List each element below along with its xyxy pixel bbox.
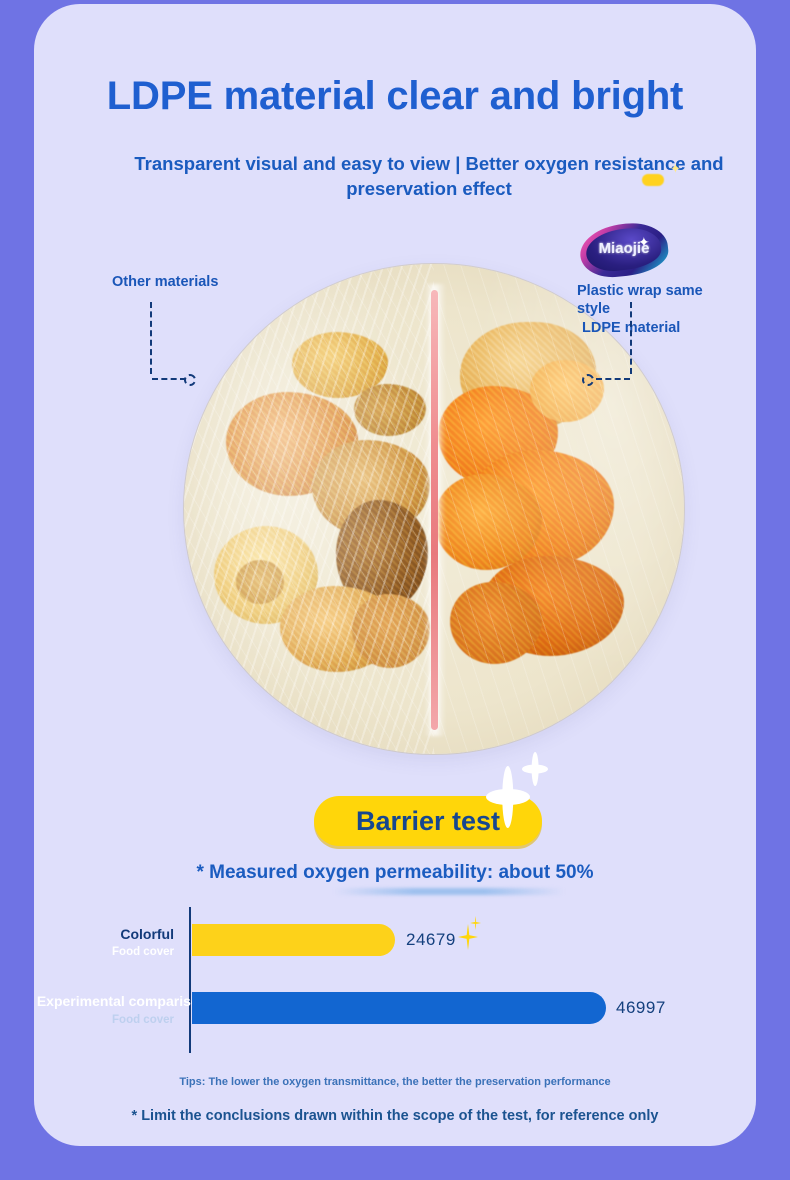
chart-bar-experimental xyxy=(192,992,606,1024)
chart-axis xyxy=(189,907,191,1053)
chart-bar-colorful xyxy=(192,924,395,956)
brand-logo: ✦ Miaojie xyxy=(580,224,668,276)
callout-bracket-right xyxy=(582,302,632,380)
brand-logo-text: Miaojie xyxy=(580,240,668,257)
chart-category-label-0: Colorful xyxy=(34,926,174,942)
page-title: LDPE material clear and bright xyxy=(34,74,756,119)
sparkle-small-icon: ✦ xyxy=(670,164,680,174)
measured-underline xyxy=(334,888,564,895)
chart-value-label-1: 46997 xyxy=(616,998,666,1018)
chart-value-label-0: 24679 xyxy=(406,930,456,950)
chart-tips-note: Tips: The lower the oxygen transmittance… xyxy=(34,1076,756,1088)
barrier-test-label: Barrier test xyxy=(356,806,500,837)
callout-bracket-left xyxy=(150,302,200,380)
sparkle-chart-icon-a xyxy=(458,924,478,950)
sparkle-chart-icon-b xyxy=(470,916,481,930)
barrier-test-badge[interactable]: Barrier test xyxy=(314,796,542,846)
plate-half-other-materials xyxy=(184,264,434,754)
disclaimer-text: * Limit the conclusions drawn within the… xyxy=(34,1108,756,1124)
chart-category-label-1: Experimental comparison xyxy=(34,993,208,1009)
content-card: LDPE material clear and bright Transpare… xyxy=(34,4,756,1146)
callout-label-other-materials: Other materials xyxy=(112,274,218,290)
page-root: LDPE material clear and bright Transpare… xyxy=(0,0,790,1180)
barrier-bar-chart: Colorful Food cover 24679 Experimental c… xyxy=(34,902,756,1062)
sparkle-medium-icon xyxy=(522,752,548,786)
chart-subcategory-label-1: Food cover xyxy=(34,1014,174,1026)
chart-subcategory-label-0: Food cover xyxy=(34,946,174,958)
comparison-divider xyxy=(431,290,438,730)
highlight-blob-icon xyxy=(642,174,664,186)
measured-permeability-text: * Measured oxygen permeability: about 50… xyxy=(34,862,756,884)
plate-half-ldpe-material xyxy=(434,264,684,754)
